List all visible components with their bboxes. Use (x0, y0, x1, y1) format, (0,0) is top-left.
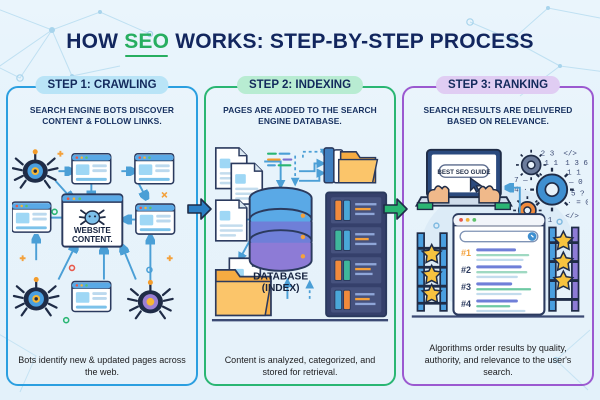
page-title: HOW SEO WORKS: STEP-BY-STEP PROCESS (0, 30, 600, 54)
database-label-line2: (INDEX) (262, 283, 300, 294)
step3-caption: Algorithms order results by quality, aut… (412, 342, 584, 378)
svg-text:#4: #4 (461, 299, 471, 309)
svg-text:1 1: 1 1 (567, 169, 581, 177)
page-card (72, 154, 111, 184)
svg-text:7 —: 7 — (514, 177, 528, 185)
center-node-label-line2: CONTENT. (72, 235, 113, 244)
center-node-label-line1: WEBSITE (74, 226, 112, 235)
server-shelf (331, 197, 381, 223)
infographic-root: HOW SEO WORKS: STEP-BY-STEP PROCESS STEP… (0, 0, 600, 400)
website-content-node: WEBSITE CONTENT. (62, 194, 122, 246)
serp-search-bar (460, 231, 538, 241)
steps-container: STEP 1: CRAWLING SEARCH ENGINE BOTS DISC… (6, 86, 594, 386)
svg-text:1 3 6: 1 3 6 (565, 160, 588, 168)
page-card (72, 281, 111, 311)
database-cylinder (250, 188, 312, 271)
server-shelf (331, 287, 381, 312)
server-shelf (331, 257, 381, 283)
svg-text:1 1: 1 1 (544, 160, 558, 168)
document (216, 200, 247, 241)
crawler-bot (128, 280, 173, 318)
step1-caption: Bots identify new & updated pages across… (16, 354, 188, 378)
title-highlight-seo: SEO (124, 30, 169, 54)
svg-text:2 3: 2 3 (541, 150, 555, 158)
crawler-bot (14, 277, 59, 315)
title-before: HOW (66, 30, 124, 53)
serp-window: #1 #2 #3 (453, 214, 544, 314)
step1-chip-label: STEP 1: CRAWLING (35, 76, 168, 94)
svg-text:#1: #1 (461, 248, 471, 258)
svg-text:</>: </> (563, 150, 577, 158)
step3-subhead: SEARCH RESULTS ARE DELIVERED BASED ON RE… (412, 105, 584, 128)
step1-subhead: SEARCH ENGINE BOTS DISCOVER CONTENT & FO… (16, 105, 188, 128)
svg-text:#3: #3 (461, 282, 471, 292)
step-panel-ranking: STEP 3: RANKING SEARCH RESULTS ARE DELIV… (402, 86, 594, 386)
page-card (136, 204, 175, 234)
svg-text:#2: #2 (461, 265, 471, 275)
title-after: WORKS: STEP-BY-STEP PROCESS (169, 30, 534, 53)
step2-chip-label: STEP 2: INDEXING (237, 76, 363, 94)
ladder-left (417, 233, 446, 311)
svg-text:— 0: — 0 (568, 179, 583, 187)
step3-illustration: BEST SEO GUIDE (408, 134, 588, 338)
svg-text:· = 0: · = 0 (567, 200, 588, 208)
step1-illustration: WEBSITE CONTENT. (12, 134, 192, 338)
page-card (135, 154, 174, 184)
server-shelf (331, 227, 381, 253)
crawler-bot (13, 149, 58, 187)
page-card (12, 202, 51, 232)
server-rack (326, 192, 386, 316)
database-label-line1: DATABASE (253, 272, 308, 283)
arrow-step1-to-step2 (187, 196, 213, 222)
svg-text:</>: </> (565, 213, 579, 221)
folder-stack (324, 148, 377, 183)
step2-subhead: PAGES ARE ADDED TO THE SEARCH ENGINE DAT… (214, 105, 386, 128)
step2-caption: Content is analyzed, categorized, and st… (214, 354, 386, 378)
arrow-step2-to-step3 (383, 196, 409, 222)
laptop-with-query: BEST SEO GUIDE (417, 150, 512, 210)
laptop-query-text: BEST SEO GUIDE (437, 169, 490, 176)
step-panel-crawling: STEP 1: CRAWLING SEARCH ENGINE BOTS DISC… (6, 86, 198, 386)
step3-chip-label: STEP 3: RANKING (436, 76, 560, 94)
svg-text:5 ?: 5 ? (571, 190, 585, 198)
step2-illustration: DATABASE (INDEX) (210, 134, 390, 338)
step-panel-indexing: STEP 2: INDEXING PAGES ARE ADDED TO THE … (204, 86, 396, 386)
